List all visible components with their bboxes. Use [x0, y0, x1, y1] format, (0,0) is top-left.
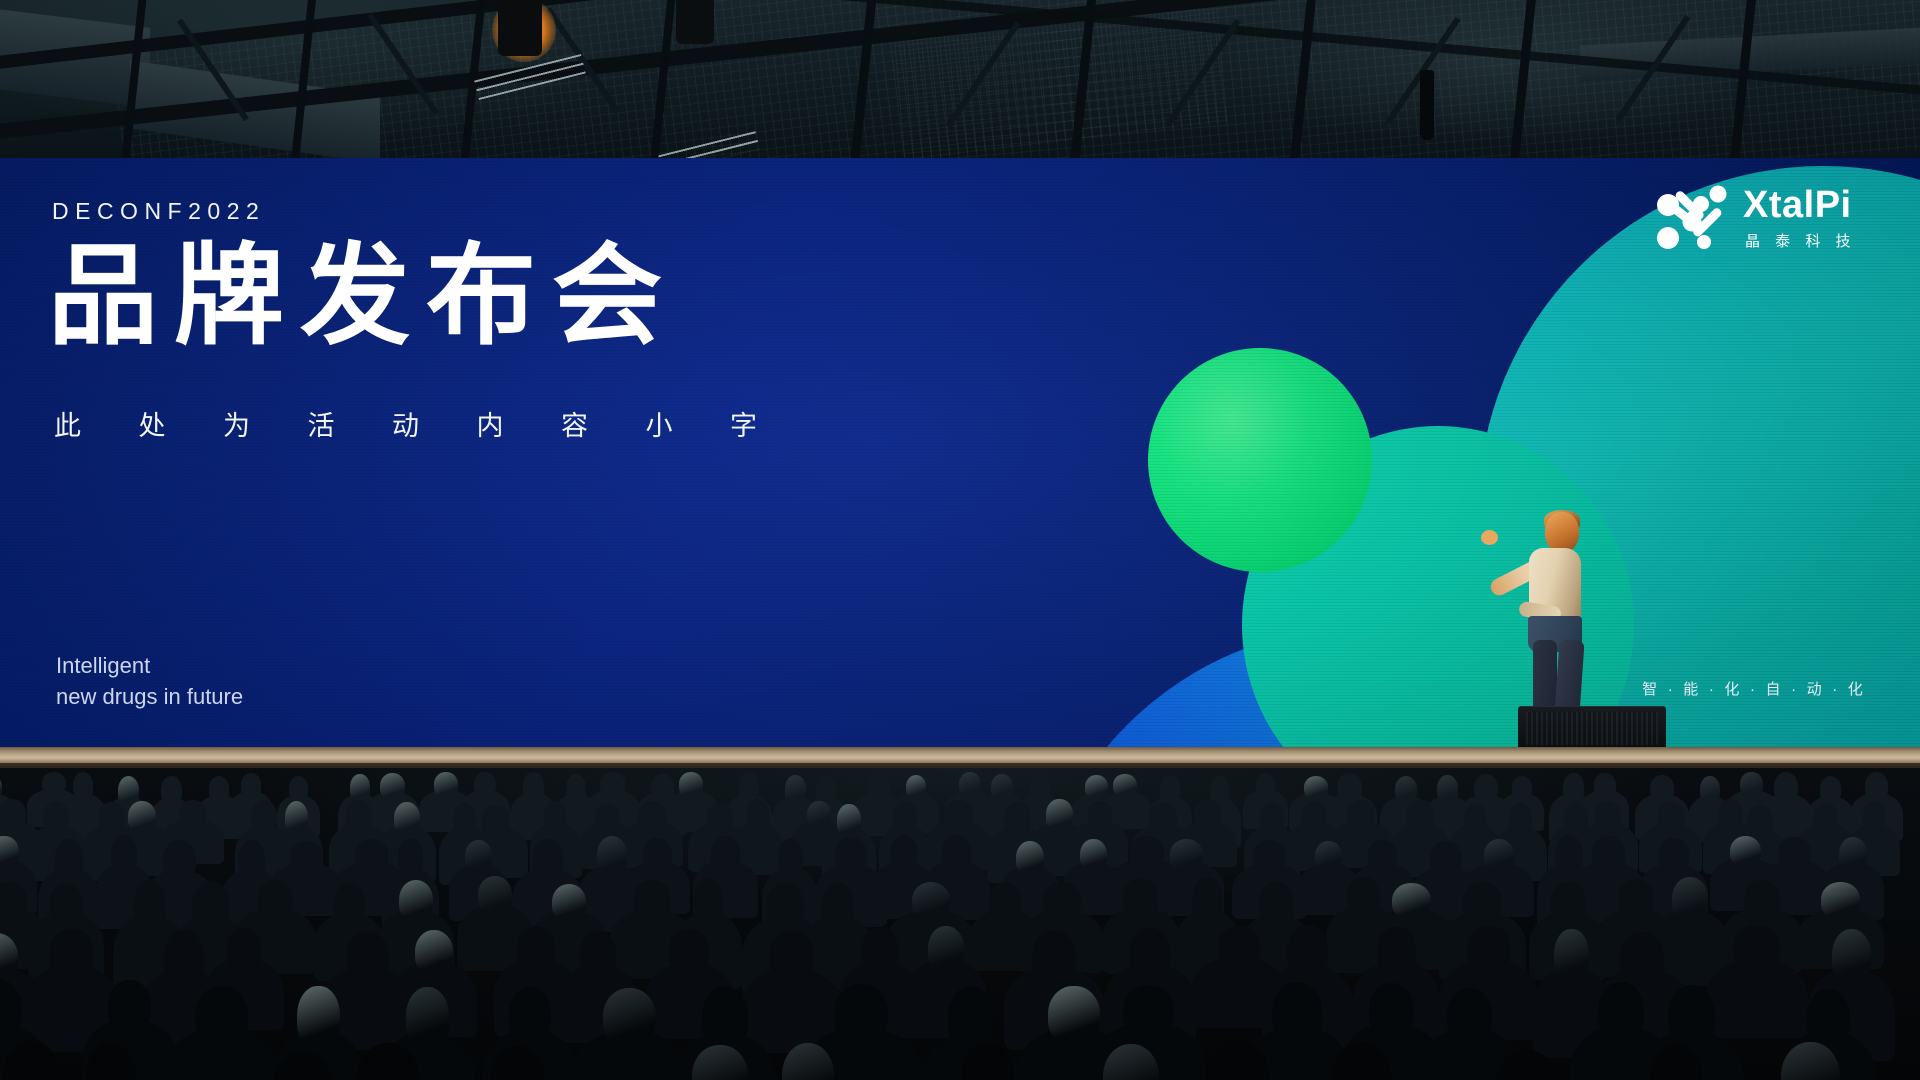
audience-member-head: [1865, 772, 1889, 800]
audience-member-head: [906, 775, 926, 800]
audience-member-head: [257, 880, 293, 919]
audience-member-head: [603, 988, 657, 1046]
audience-member-head: [862, 927, 898, 972]
logo-chinese-name: 晶 泰 科 技: [1745, 230, 1856, 251]
audience-member-head: [238, 840, 265, 880]
audience-member-head: [679, 772, 703, 796]
presenter-head: [1545, 512, 1579, 552]
audience-member-head: [118, 776, 140, 805]
audience-member-head: [164, 930, 204, 984]
audience-member-head: [1130, 836, 1164, 868]
audience-member-head: [1337, 773, 1361, 801]
audience-member-head: [1194, 800, 1221, 827]
audience-member-head: [893, 801, 916, 834]
audience-member-head: [1592, 836, 1625, 872]
audience-member-head: [580, 931, 616, 977]
audience-member-head: [1464, 804, 1487, 833]
english-tagline-line2: new drugs in future: [56, 681, 243, 712]
audience-member-head: [195, 986, 249, 1044]
audience-member-head: [1043, 882, 1080, 919]
audience-member-head: [1618, 879, 1655, 919]
audience-member-head: [1672, 877, 1708, 922]
audience-member-head: [346, 932, 389, 981]
audience-member-head: [1598, 982, 1644, 1041]
audience-member-head: [706, 803, 734, 831]
audience-member-head: [1113, 774, 1136, 797]
audience-member-head: [890, 835, 917, 869]
audience-member-head: [1718, 799, 1743, 830]
audience-member-head: [1700, 776, 1719, 803]
audience-member-head: [289, 776, 308, 801]
audience-member-head: [42, 772, 66, 794]
audience-member-head: [394, 802, 420, 835]
audience-member-head: [1123, 878, 1158, 917]
audience-member-head: [1740, 772, 1763, 796]
audience-member-head: [1302, 801, 1327, 830]
audience-member-head: [334, 883, 365, 923]
audience-member-head: [1004, 802, 1031, 835]
hanging-cable: [1420, 70, 1434, 140]
audience-member-head: [694, 878, 724, 924]
audience-member-head: [1218, 926, 1260, 967]
audience-member-head: [1747, 805, 1773, 839]
audience-member-head: [600, 772, 625, 796]
audience-member-head: [837, 804, 861, 837]
audience-member-head: [285, 801, 309, 834]
logo-wordmark: XtalPi: [1743, 184, 1852, 227]
audience-member-head: [1392, 883, 1431, 919]
audience-member-head: [111, 835, 137, 873]
audience-member-head: [209, 776, 229, 802]
audience-member-head: [1620, 932, 1664, 983]
audience-member-head: [834, 984, 889, 1044]
audience-member-head: [398, 838, 423, 878]
audience-member-head: [415, 930, 453, 974]
audience-member-head: [43, 801, 69, 834]
audience-member-head: [1832, 929, 1871, 983]
audience-member-head: [0, 882, 27, 918]
audience-member-head: [1657, 802, 1685, 831]
audience-member-head: [108, 980, 151, 1033]
audience-member-head: [532, 839, 563, 878]
audience-member-head: [1123, 985, 1173, 1037]
audience-member-head: [643, 838, 672, 869]
audience-member-head: [1734, 925, 1780, 971]
audience-member-head: [1807, 989, 1850, 1047]
page-title: 品牌发布会: [48, 235, 678, 358]
stage-light-fixture: [498, 0, 542, 56]
audience-member-head: [597, 836, 627, 875]
audience-member-head: [711, 836, 740, 870]
audience-member-head: [669, 929, 709, 974]
audience-member-head: [1594, 773, 1616, 796]
audience-member-head: [1080, 839, 1107, 870]
audience-member-head: [746, 799, 769, 830]
audience-member-head: [1594, 801, 1621, 830]
audience-member-head: [1774, 772, 1799, 801]
audience-member-head: [1463, 882, 1502, 922]
audience-member-head: [702, 986, 748, 1050]
audience-member-head: [544, 801, 567, 833]
audience-member-head: [1820, 776, 1841, 802]
audience-member-head: [1259, 882, 1293, 926]
audience-member-head: [523, 772, 544, 800]
audience-member-head: [465, 840, 492, 873]
audience-member-head: [785, 775, 806, 803]
audience-member-head: [1564, 801, 1589, 834]
audience-member-head: [651, 774, 674, 799]
audience-member-head: [1474, 774, 1498, 802]
audience-member-head: [1563, 773, 1584, 802]
audience-member-head: [1129, 928, 1170, 977]
english-tagline: Intelligent new drugs in future: [56, 650, 243, 712]
audience-member-head: [179, 800, 206, 826]
audience-member-head: [566, 774, 586, 802]
audience-member-head: [1551, 882, 1586, 922]
audience-member-head: [55, 839, 83, 879]
audience-member-head: [552, 884, 586, 921]
english-tagline-line1: Intelligent: [56, 650, 243, 681]
audience-member-head: [98, 802, 125, 834]
audience-member-head: [816, 775, 835, 805]
audience-member-head: [1395, 776, 1418, 802]
audience-member-head: [474, 772, 496, 797]
audience-member-head: [1149, 803, 1177, 831]
audience-member-head: [1304, 776, 1328, 799]
audience-member-head: [399, 880, 433, 921]
audience-member-head: [739, 772, 760, 802]
audience-member-head: [912, 882, 951, 920]
chinese-tagline: 智 · 能 · 化 · 自 · 动 · 化: [1642, 678, 1866, 699]
audience-member-head: [434, 772, 458, 796]
audience-member-head: [481, 805, 510, 835]
audience-member-head: [1260, 802, 1285, 834]
audience-member-head: [1256, 773, 1276, 796]
audience-member-head: [163, 840, 196, 880]
audience-member-head: [1839, 837, 1867, 871]
audience-member-head: [1512, 776, 1532, 799]
audience-member-head: [226, 928, 262, 970]
audience-member-head: [1744, 880, 1781, 918]
audience-member-head: [1437, 775, 1458, 803]
audience-member-head: [807, 801, 832, 828]
audience-member-head: [1088, 801, 1113, 828]
audience-member-head: [633, 880, 671, 920]
monitor-grille: [1526, 712, 1658, 745]
audience-member-head: [128, 801, 156, 832]
event-subtitle: 此 处 为 活 动 内 容 小 字: [54, 404, 782, 443]
audience-member-head: [478, 876, 512, 915]
audience-member-head: [161, 776, 182, 806]
audience-member-head: [1347, 800, 1375, 828]
audience-member-head: [1160, 775, 1180, 803]
audience-member-head: [380, 773, 404, 800]
audience-member-head: [1253, 840, 1286, 872]
audience-member-head: [1467, 925, 1511, 972]
audience-member-head: [595, 804, 620, 831]
audience-member-head: [1046, 799, 1072, 830]
audience-member-head: [1407, 800, 1433, 832]
audience-member-head: [1658, 838, 1689, 873]
audience-member-head: [1814, 803, 1838, 832]
audience-member-head: [1016, 841, 1044, 875]
audience-member-head: [989, 883, 1021, 919]
audience-member-head: [928, 926, 964, 972]
audience-member-head: [241, 773, 261, 798]
audience-member-head: [509, 987, 551, 1044]
venue-ceiling: [0, 0, 1920, 160]
audience-member-head: [1730, 836, 1761, 867]
audience-member-head: [1368, 840, 1396, 871]
audience-silhouettes: [0, 768, 1920, 1080]
audience-member-head: [517, 926, 555, 972]
audience-member-head: [406, 987, 449, 1047]
audience-member-head: [73, 772, 94, 801]
audience-member-head: [1315, 841, 1342, 871]
audience-member-head: [778, 838, 803, 878]
stage-floor-monitor: [1518, 706, 1666, 753]
audience-member-head: [942, 835, 972, 870]
audience-member-head: [0, 799, 26, 829]
audience-member-head: [822, 883, 854, 927]
audience-member-head: [1085, 775, 1108, 799]
audience-member-head: [638, 801, 666, 828]
audience-member-head: [991, 774, 1013, 800]
audience-member-head: [1287, 925, 1328, 978]
stage-light-fixture: [676, 0, 714, 44]
audience-member-head: [1668, 985, 1715, 1048]
audience-member-head: [1778, 837, 1811, 869]
audience-member-head: [134, 880, 167, 927]
audience-member-head: [1048, 986, 1099, 1044]
audience-member-head: [192, 882, 230, 929]
audience-member-head: [766, 883, 804, 930]
audience-member-head: [49, 884, 83, 923]
audience-member-head: [1650, 775, 1674, 802]
audience-member-head: [350, 774, 370, 801]
audience-member-head: [355, 839, 388, 870]
audience-member-head: [290, 841, 323, 872]
audience-member-head: [1170, 839, 1203, 871]
decor-circle-green: [1148, 348, 1372, 572]
audience-member-head: [1447, 988, 1492, 1043]
audience-member-head: [1272, 982, 1322, 1042]
audience-member-head: [867, 775, 891, 800]
audience-member-head: [49, 929, 94, 980]
audience-member-head: [454, 802, 477, 836]
audience-member-head: [1032, 931, 1076, 980]
audience-member-head: [769, 931, 814, 981]
audience-member-head: [297, 986, 339, 1047]
audience-member-head: [1863, 801, 1886, 832]
audience-member-head: [251, 800, 277, 834]
audience-member-head: [1484, 839, 1515, 871]
brand-logo: XtalPi 晶 泰 科 技: [1655, 182, 1875, 260]
xtalpi-molecule-icon: [1655, 182, 1731, 256]
audience-member-head: [1369, 983, 1414, 1037]
audience-member-head: [1430, 841, 1462, 877]
audience-member-head: [944, 800, 972, 829]
audience-member-head: [1821, 882, 1860, 918]
audience-member-head: [835, 837, 867, 874]
audience-member-head: [1192, 877, 1223, 923]
audience-member-head: [1347, 877, 1380, 916]
audience-member-head: [345, 800, 372, 833]
audience-member-head: [1555, 835, 1583, 875]
screenshot-root: DECONF2022 品牌发布会 此 处 为 活 动 内 容 小 字 Intel…: [0, 0, 1920, 1080]
audience-member-head: [1377, 927, 1415, 974]
event-code-label: DECONF2022: [52, 198, 265, 225]
presenter-hand: [1481, 530, 1498, 545]
audience-member-head: [0, 836, 19, 868]
audience-member-head: [959, 772, 981, 797]
audience-member-head: [1509, 803, 1532, 835]
audience-member-head: [1554, 929, 1589, 982]
audience-member-head: [1030, 774, 1050, 800]
